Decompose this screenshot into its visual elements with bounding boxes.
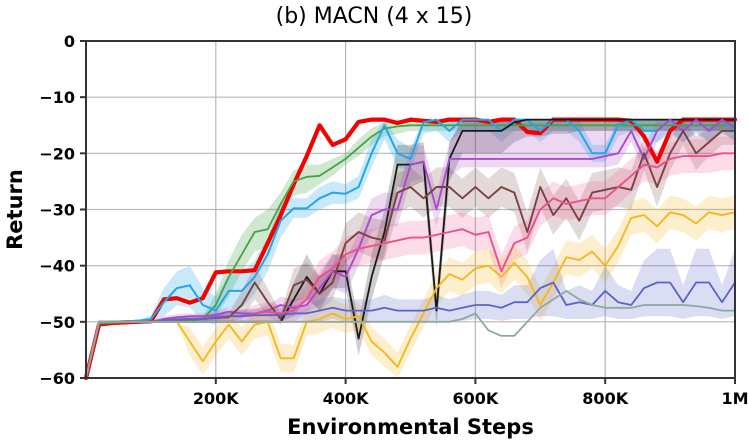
y-tick-label: −40	[39, 257, 75, 276]
chart-figure: (b) MACN (4 x 15) 0−10−20−30−40−50−60200…	[0, 0, 748, 443]
y-tick-label: −10	[39, 88, 75, 107]
x-tick-label: 1M	[721, 389, 748, 408]
y-axis-label: Return	[3, 169, 27, 250]
x-tick-label: 800K	[582, 389, 628, 408]
x-tick-label: 200K	[193, 389, 239, 408]
y-tick-label: 0	[64, 32, 75, 51]
y-tick-label: −60	[39, 369, 75, 388]
x-axis-label: Environmental Steps	[287, 415, 534, 439]
y-tick-label: −50	[39, 313, 75, 332]
y-tick-label: −30	[39, 201, 75, 220]
line-chart-plot: 0−10−20−30−40−50−60200K400K600K800K1MEnv…	[0, 0, 748, 443]
y-tick-label: −20	[39, 144, 75, 163]
x-tick-label: 600K	[453, 389, 499, 408]
x-tick-label: 400K	[323, 389, 369, 408]
